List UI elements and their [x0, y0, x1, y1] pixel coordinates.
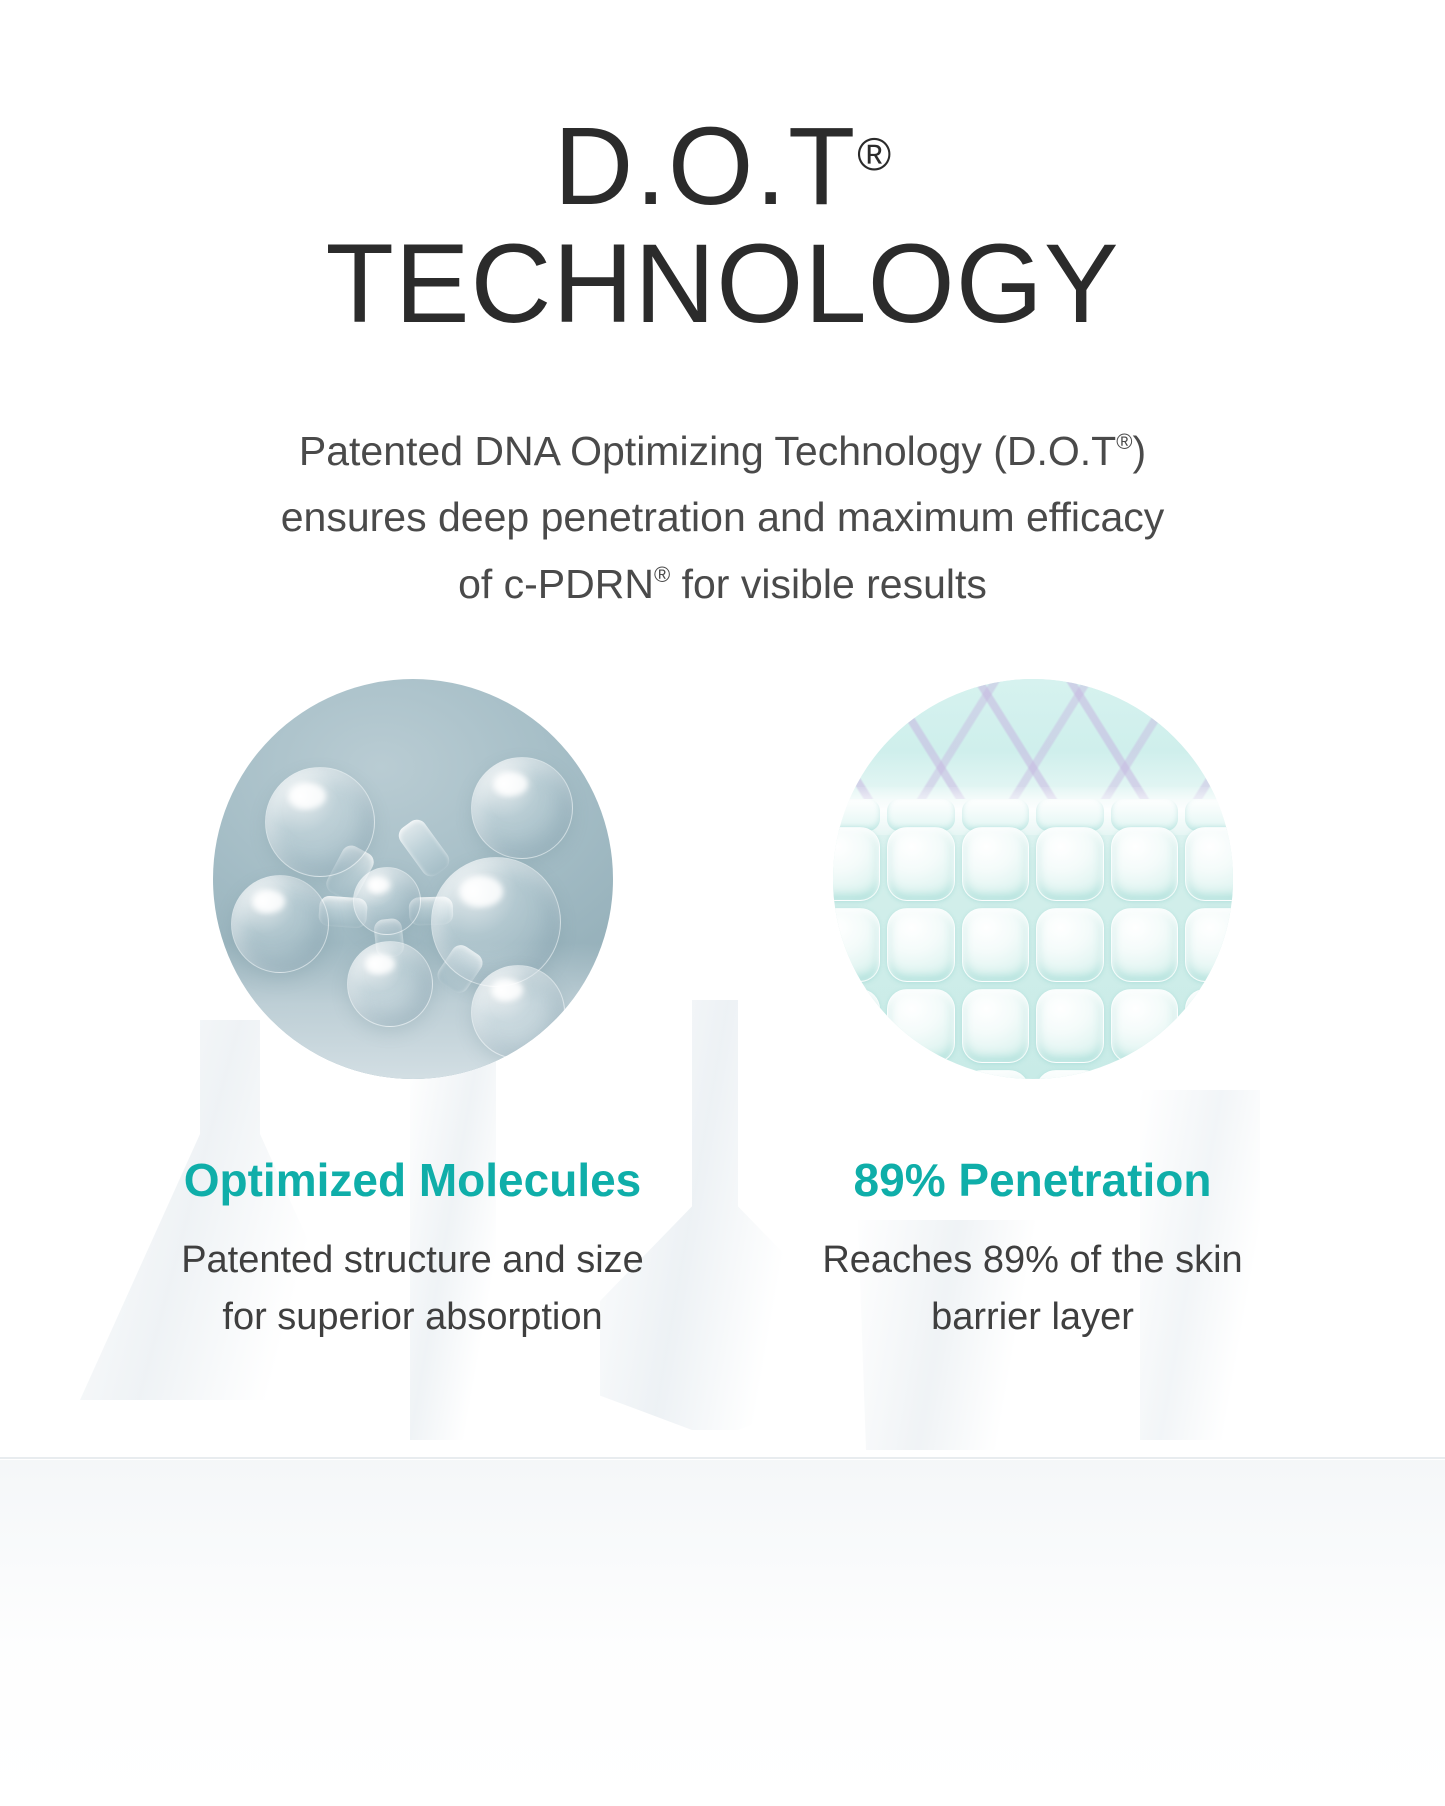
subtitle-line-1: Patented DNA Optimizing Technology (D.O.…	[173, 418, 1273, 484]
molecule-atom-sphere	[265, 767, 375, 877]
page-title-text: D.O.T	[554, 105, 857, 228]
dot-technology-page: D.O.T® TECHNOLOGY Patented DNA Optimizin…	[0, 0, 1445, 1806]
subtitle-line-3: of c-PDRN® for visible results	[173, 551, 1273, 617]
barrier-cell	[1036, 827, 1104, 901]
barrier-cell	[833, 989, 881, 1063]
barrier-cell	[1036, 908, 1104, 982]
molecule-atom-sphere	[431, 857, 561, 987]
skin-barrier-lattice-illustration	[833, 679, 1233, 1079]
molecule-sphere-illustration	[213, 679, 613, 1079]
page-header: D.O.T® TECHNOLOGY	[0, 0, 1445, 340]
barrier-cell	[887, 827, 955, 901]
barrier-cell	[1111, 908, 1179, 982]
page-subtitle: Patented DNA Optimizing Technology (D.O.…	[173, 418, 1273, 617]
molecule-atom-sphere	[347, 941, 433, 1027]
feature-title-penetration: 89% Penetration	[854, 1155, 1212, 1206]
feature-card-penetration: 89% Penetration Reaches 89% of the skin …	[753, 679, 1313, 1346]
barrier-cell	[1185, 908, 1233, 982]
subtitle-line-2: ensures deep penetration and maximum eff…	[173, 484, 1273, 550]
barrier-cell	[962, 827, 1030, 901]
barrier-cell	[887, 1070, 955, 1079]
barrier-cell-grid	[833, 823, 1233, 1079]
barrier-cell	[887, 908, 955, 982]
barrier-cell	[1036, 989, 1104, 1063]
barrier-cell	[887, 989, 955, 1063]
page-title-line2: TECHNOLOGY	[0, 228, 1445, 340]
barrier-cell	[1185, 989, 1233, 1063]
subtitle-line-3-a: of c-PDRN	[458, 561, 654, 607]
subtitle-line-3-b: for visible results	[670, 561, 987, 607]
barrier-cell	[1111, 989, 1179, 1063]
feature-card-optimized-molecules: Optimized Molecules Patented structure a…	[133, 679, 693, 1346]
molecule-atom-sphere	[353, 867, 421, 935]
barrier-cell	[962, 989, 1030, 1063]
barrier-cell	[962, 1070, 1030, 1079]
barrier-cell	[1185, 1070, 1233, 1079]
barrier-cell	[1111, 1070, 1179, 1079]
molecule-atom-sphere	[471, 757, 573, 859]
barrier-cell	[1185, 827, 1233, 901]
barrier-cell	[833, 1070, 881, 1079]
molecule-atom-sphere	[231, 875, 329, 973]
registered-trademark-icon: ®	[654, 562, 670, 587]
feature-title-optimized-molecules: Optimized Molecules	[184, 1155, 642, 1206]
subtitle-line-1-text: Patented DNA Optimizing Technology (D.O.…	[299, 428, 1116, 474]
barrier-surface-pattern	[833, 679, 1233, 799]
registered-trademark-icon: ®	[857, 128, 891, 180]
registered-trademark-icon: ®	[1116, 429, 1132, 454]
page-title-line1: D.O.T®	[0, 112, 1445, 222]
barrier-cell	[1111, 827, 1179, 901]
barrier-cell	[833, 908, 881, 982]
molecule-atom-sphere	[471, 965, 565, 1059]
feature-columns: Optimized Molecules Patented structure a…	[0, 679, 1445, 1346]
feature-description-optimized-molecules: Patented structure and size for superior…	[178, 1232, 648, 1346]
subtitle-line-1-close: )	[1132, 428, 1146, 474]
barrier-cell	[1036, 1070, 1104, 1079]
barrier-cell	[833, 827, 881, 901]
feature-description-penetration: Reaches 89% of the skin barrier layer	[798, 1232, 1268, 1346]
barrier-cell	[962, 908, 1030, 982]
